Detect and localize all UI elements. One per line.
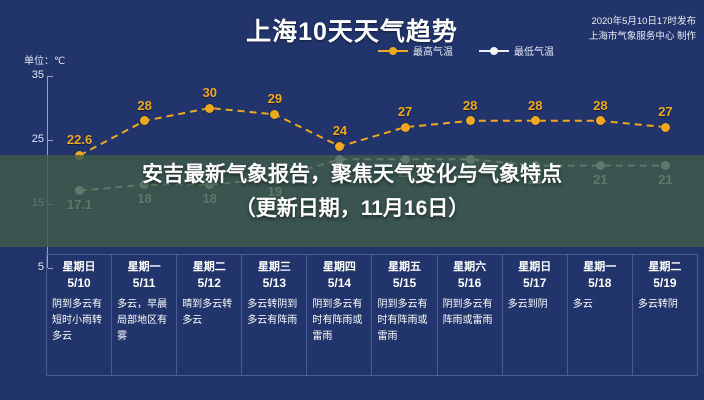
forecast-description: 多云 bbox=[568, 291, 632, 313]
y-axis-tick-label: 35 bbox=[18, 69, 44, 81]
forecast-column-header: 星期二5/12 bbox=[177, 255, 241, 291]
forecast-description: 阴到多云有短时小雨转多云 bbox=[47, 291, 111, 345]
data-point-label: 29 bbox=[268, 91, 282, 106]
data-point-label: 28 bbox=[593, 98, 607, 113]
forecast-column[interactable]: 星期六5/16阴到多云有阵雨或雷雨 bbox=[438, 255, 503, 375]
y-axis-tick-label: 5 bbox=[18, 261, 44, 273]
forecast-column-header: 星期二5/19 bbox=[633, 255, 697, 291]
data-point bbox=[466, 116, 475, 125]
forecast-description: 阴到多云有时有阵雨或雷雨 bbox=[307, 291, 371, 345]
overlay-headline-line1: 安吉最新气象报告，聚焦天气变化与气象特点 bbox=[0, 158, 704, 192]
forecast-column-header: 星期四5/14 bbox=[307, 255, 371, 291]
data-point bbox=[205, 104, 214, 113]
forecast-weekday: 星期日 bbox=[47, 259, 111, 275]
forecast-column[interactable]: 星期四5/14阴到多云有时有阵雨或雷雨 bbox=[307, 255, 372, 375]
forecast-date: 5/14 bbox=[307, 275, 371, 291]
data-point-label: 28 bbox=[528, 98, 542, 113]
data-point-label: 24 bbox=[333, 123, 347, 138]
overlay-headline-line2: （更新日期，11月16日） bbox=[0, 192, 704, 226]
forecast-column-header: 星期五5/15 bbox=[372, 255, 436, 291]
forecast-column[interactable]: 星期日5/10阴到多云有短时小雨转多云 bbox=[47, 255, 112, 375]
forecast-column-header: 星期一5/18 bbox=[568, 255, 632, 291]
forecast-weekday: 星期一 bbox=[568, 259, 632, 275]
forecast-column[interactable]: 星期一5/18多云 bbox=[568, 255, 633, 375]
forecast-description: 多云，早晨局部地区有雾 bbox=[112, 291, 176, 345]
data-point-label: 22.6 bbox=[67, 132, 92, 147]
forecast-date: 5/11 bbox=[112, 275, 176, 291]
forecast-column-header: 星期六5/16 bbox=[438, 255, 502, 291]
forecast-date: 5/15 bbox=[372, 275, 436, 291]
forecast-weekday: 星期六 bbox=[438, 259, 502, 275]
forecast-weekday: 星期五 bbox=[372, 259, 436, 275]
forecast-column-header: 星期三5/13 bbox=[242, 255, 306, 291]
forecast-weekday: 星期二 bbox=[633, 259, 697, 275]
forecast-column-header: 星期日5/17 bbox=[503, 255, 567, 291]
forecast-weekday: 星期四 bbox=[307, 259, 371, 275]
series-line-high bbox=[80, 108, 666, 155]
forecast-weekday: 星期一 bbox=[112, 259, 176, 275]
forecast-column[interactable]: 星期二5/19多云转阴 bbox=[633, 255, 697, 375]
forecast-column[interactable]: 星期一5/11多云，早晨局部地区有雾 bbox=[112, 255, 177, 375]
forecast-description: 阴到多云有时有阵雨或雷雨 bbox=[372, 291, 436, 345]
forecast-date: 5/17 bbox=[503, 275, 567, 291]
data-point bbox=[401, 123, 410, 132]
overlay-headline: 安吉最新气象报告，聚焦天气变化与气象特点 （更新日期，11月16日） bbox=[0, 158, 704, 226]
forecast-date: 5/18 bbox=[568, 275, 632, 291]
forecast-description: 阴到多云有阵雨或雷雨 bbox=[438, 291, 502, 329]
forecast-date: 5/12 bbox=[177, 275, 241, 291]
forecast-description: 多云转阴到多云有阵雨 bbox=[242, 291, 306, 329]
forecast-description: 多云到阴 bbox=[503, 291, 567, 313]
forecast-date: 5/10 bbox=[47, 275, 111, 291]
forecast-description: 多云转阴 bbox=[633, 291, 697, 313]
data-point-label: 28 bbox=[463, 98, 477, 113]
forecast-column-header: 星期日5/10 bbox=[47, 255, 111, 291]
forecast-column[interactable]: 星期日5/17多云到阴 bbox=[503, 255, 568, 375]
forecast-date: 5/13 bbox=[242, 275, 306, 291]
y-axis-tick bbox=[48, 140, 53, 141]
forecast-column[interactable]: 星期五5/15阴到多云有时有阵雨或雷雨 bbox=[372, 255, 437, 375]
forecast-column[interactable]: 星期二5/12晴到多云转多云 bbox=[177, 255, 242, 375]
data-point-label: 30 bbox=[203, 85, 217, 100]
y-axis-tick-label: 25 bbox=[18, 133, 44, 145]
forecast-date: 5/16 bbox=[438, 275, 502, 291]
data-point-label: 27 bbox=[398, 104, 412, 119]
data-point bbox=[661, 123, 670, 132]
forecast-description: 晴到多云转多云 bbox=[177, 291, 241, 329]
forecast-weekday: 星期三 bbox=[242, 259, 306, 275]
forecast-date: 5/19 bbox=[633, 275, 697, 291]
forecast-column-header: 星期一5/11 bbox=[112, 255, 176, 291]
weather-trend-infographic: 上海10天天气趋势 2020年5月10日17时发布 上海市气象服务中心 制作 单… bbox=[0, 0, 704, 400]
data-point-label: 28 bbox=[137, 98, 151, 113]
forecast-table: 星期日5/10阴到多云有短时小雨转多云星期一5/11多云，早晨局部地区有雾星期二… bbox=[46, 254, 698, 376]
data-point-label: 27 bbox=[658, 104, 672, 119]
forecast-weekday: 星期日 bbox=[503, 259, 567, 275]
y-axis-tick bbox=[48, 76, 53, 77]
data-point bbox=[531, 116, 540, 125]
forecast-weekday: 星期二 bbox=[177, 259, 241, 275]
forecast-column[interactable]: 星期三5/13多云转阴到多云有阵雨 bbox=[242, 255, 307, 375]
